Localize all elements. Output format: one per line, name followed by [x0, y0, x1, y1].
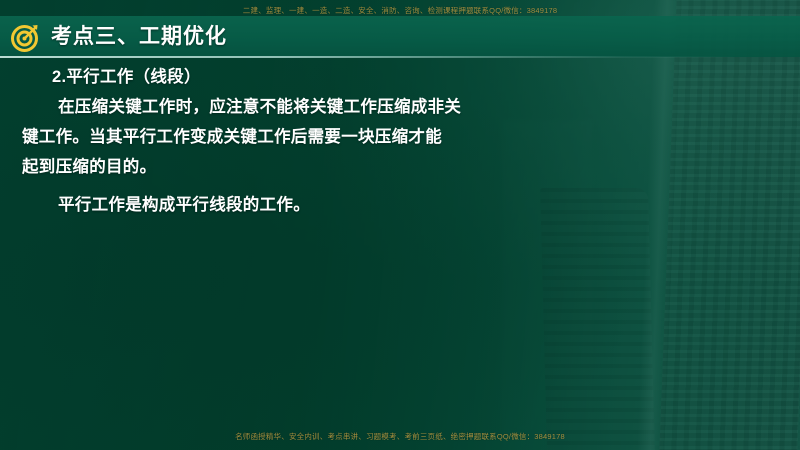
body-paragraph-line-2: 键工作。当其平行工作变成关键工作后需要一块压缩才能: [22, 122, 582, 152]
body-closing-line: 平行工作是构成平行线段的工作。: [22, 190, 582, 220]
body-paragraph-line-1: 在压缩关键工作时，应注意不能将关键工作压缩成非关: [22, 92, 582, 122]
slide-body: 2.平行工作（线段） 在压缩关键工作时，应注意不能将关键工作压缩成非关 键工作。…: [22, 62, 582, 220]
top-promo-banner-text: 二建、监理、一建、一造、二造、安全、消防、咨询、检测课程押题联系QQ/微信：38…: [243, 7, 557, 15]
page-title: 考点三、工期优化: [51, 26, 227, 47]
body-heading: 2.平行工作（线段）: [22, 62, 582, 92]
slide-header: 考点三、工期优化: [0, 16, 227, 57]
bottom-promo-banner: 名师函授精华、安全内训、考点串讲、习题模考、考前三页纸、绝密押题联系QQ/微信：…: [0, 430, 800, 444]
body-spacer: [22, 182, 582, 190]
presentation-slide: 二建、监理、一建、一造、二造、安全、消防、咨询、检测课程押题联系QQ/微信：38…: [0, 0, 800, 450]
bottom-promo-banner-text: 名师函授精华、安全内训、考点串讲、习题模考、考前三页纸、绝密押题联系QQ/微信：…: [235, 433, 565, 441]
target-bullseye-arrow-icon: [9, 21, 41, 53]
body-paragraph-line-3: 起到压缩的目的。: [22, 152, 582, 182]
